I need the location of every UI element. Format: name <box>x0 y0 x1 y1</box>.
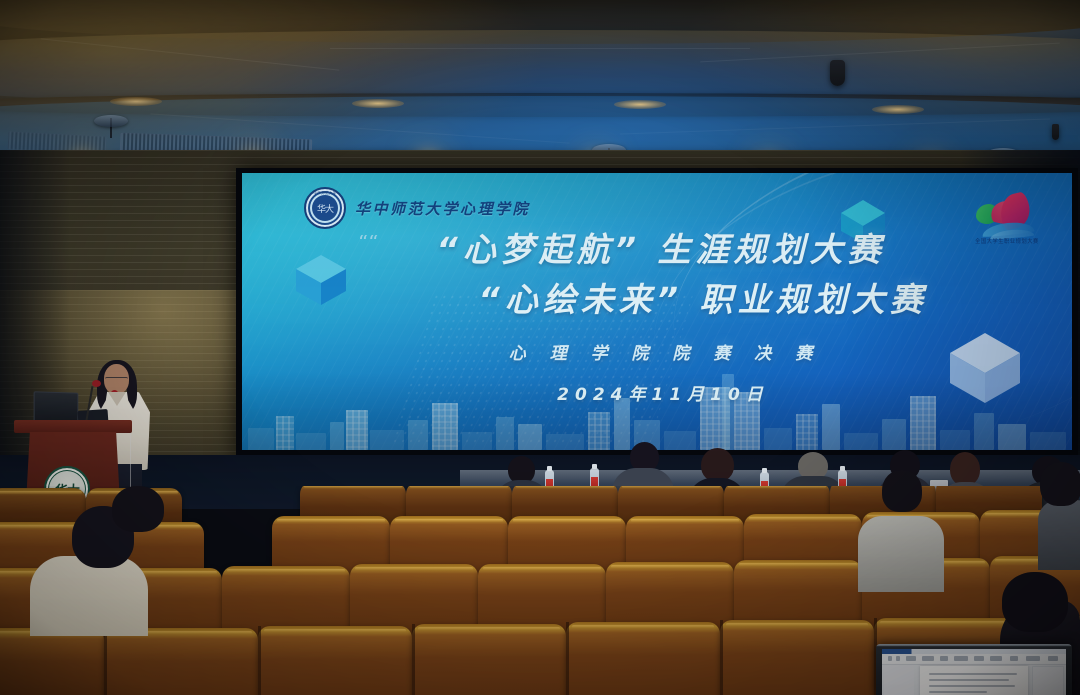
headline-line-2: “心绘未来” 职业规划大赛 <box>242 283 1072 316</box>
audience-right-1-head <box>882 470 922 512</box>
seat[interactable] <box>258 626 412 695</box>
seat[interactable] <box>412 624 566 695</box>
seat[interactable] <box>104 628 258 695</box>
seat[interactable] <box>0 628 104 695</box>
podium-top-surface <box>14 420 132 433</box>
seal-inner-text: 华大 <box>312 195 338 221</box>
seat-divider <box>566 622 569 695</box>
audience-right-2-body <box>1038 500 1080 570</box>
recessed-light <box>614 100 666 109</box>
auditorium-scene: ““ 华中师范大学 华大 华中师范大学心理学院 <box>0 0 1080 695</box>
headline-line-1: “心梦起航” 生涯规划大赛 <box>242 233 1072 266</box>
ceiling-speaker-box <box>1052 124 1059 140</box>
screen-headline-block: “心梦起航” 生涯规划大赛 “心绘未来” 职业规划大赛 心 理 学 院 院 赛 … <box>242 233 1072 405</box>
document-page <box>920 666 1028 695</box>
seat-divider <box>104 628 107 695</box>
led-screen-frame: ““ 华中师范大学 华大 华中师范大学心理学院 <box>236 168 1078 459</box>
app-side-pane[interactable] <box>1032 666 1064 695</box>
pendant-speaker <box>94 115 128 127</box>
audience-mid-left-head <box>112 486 164 532</box>
audience-right-2-head <box>1040 462 1080 506</box>
ceiling-speaker-box <box>830 60 845 86</box>
app-toolbar <box>882 654 1066 665</box>
laptop-screen <box>882 649 1066 695</box>
audience-right-1-body <box>858 516 944 592</box>
audience-foreground-right-head <box>1002 572 1068 632</box>
audience-front-left-body <box>30 556 148 636</box>
recessed-light <box>352 99 404 108</box>
seat[interactable] <box>720 620 874 695</box>
judge-head <box>950 452 980 486</box>
podium-microphone-head-icon <box>92 380 101 387</box>
seat[interactable] <box>566 622 720 695</box>
glasses-icon <box>105 377 128 383</box>
university-seal-icon: 华中师范大学 华大 <box>304 187 346 229</box>
competition-logo-mark-icon <box>970 194 1044 236</box>
recessed-light <box>872 105 924 114</box>
seat-divider <box>412 624 415 695</box>
ceiling-seam <box>330 48 750 49</box>
recessed-light <box>110 97 162 106</box>
screen-subtitle: 心 理 学 院 院 赛 决 赛 <box>242 339 1072 364</box>
organizer-logo: 华中师范大学 华大 华中师范大学心理学院 <box>304 187 530 229</box>
seat-divider <box>258 626 261 695</box>
seat-divider <box>720 620 723 695</box>
led-screen: ““ 华中师范大学 华大 华中师范大学心理学院 <box>242 173 1072 450</box>
judge-head <box>701 448 734 482</box>
screen-date: 2024年11月10日 <box>242 380 1072 405</box>
attendee-laptop[interactable] <box>876 644 1072 695</box>
organizer-name: 华中师范大学心理学院 <box>355 198 530 219</box>
app-navigation-pane[interactable] <box>884 666 914 695</box>
